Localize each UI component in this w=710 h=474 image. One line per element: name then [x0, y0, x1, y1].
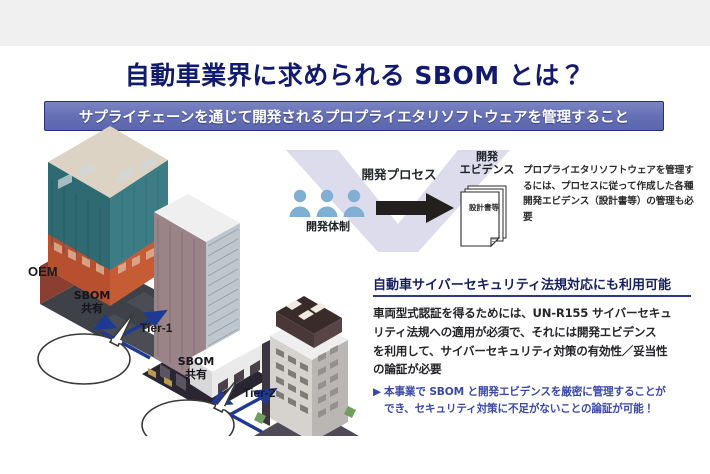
document-inner-label: 設計書等 — [462, 202, 506, 213]
slide-canvas: 自動車業界に求められる SBOM とは？ サプライチェーンを通じて開発されるプロ… — [0, 46, 710, 434]
evidence-label: 開発 エビデンス — [452, 150, 522, 177]
right-arrow-icon — [376, 192, 454, 224]
slide-title: 自動車業界に求められる SBOM とは？ — [0, 56, 710, 92]
sbom-share-balloon-2-text: SBOM 共有 — [160, 356, 232, 382]
oem-label: OEM — [28, 264, 58, 279]
bottom-letterbox — [0, 434, 710, 474]
top-letterbox — [0, 0, 710, 46]
tier2-building-icon — [254, 296, 366, 436]
evidence-document-group: 開発 エビデンス 設計書等 — [456, 150, 518, 254]
triangle-bullet-icon: ▶ — [373, 386, 381, 398]
regulation-heading: 自動車サイバーセキュリティ法規対応にも利用可能 — [373, 274, 691, 293]
sbom-share-balloon-1-text: SBOM 共有 — [56, 290, 128, 316]
regulation-body: 車両型式認証を得るためには、UN-R155 サイバーセキュ リティ法規への適用が… — [373, 304, 693, 379]
callout-line-2: でき、セキュリティ対策に不足がないことの論証が可能！ — [373, 401, 695, 418]
tier1-label: Tier-1 — [140, 321, 172, 335]
regulation-callout: ▶本事業で SBOM と開発エビデンスを厳密に管理することが でき、セキュリティ… — [373, 384, 695, 418]
callout-line-1: 本事業で SBOM と開発エビデンスを厳密に管理することが — [384, 386, 666, 398]
supply-chain-illustration — [18, 106, 368, 436]
tier2-label: Tier-2 — [243, 386, 275, 400]
document-stack-icon — [458, 182, 516, 248]
regulation-divider — [373, 295, 691, 297]
evidence-note-text: プロプライエタリソフトウェアを管理するには、プロセスに従って作成した各種開発エビ… — [523, 163, 695, 225]
